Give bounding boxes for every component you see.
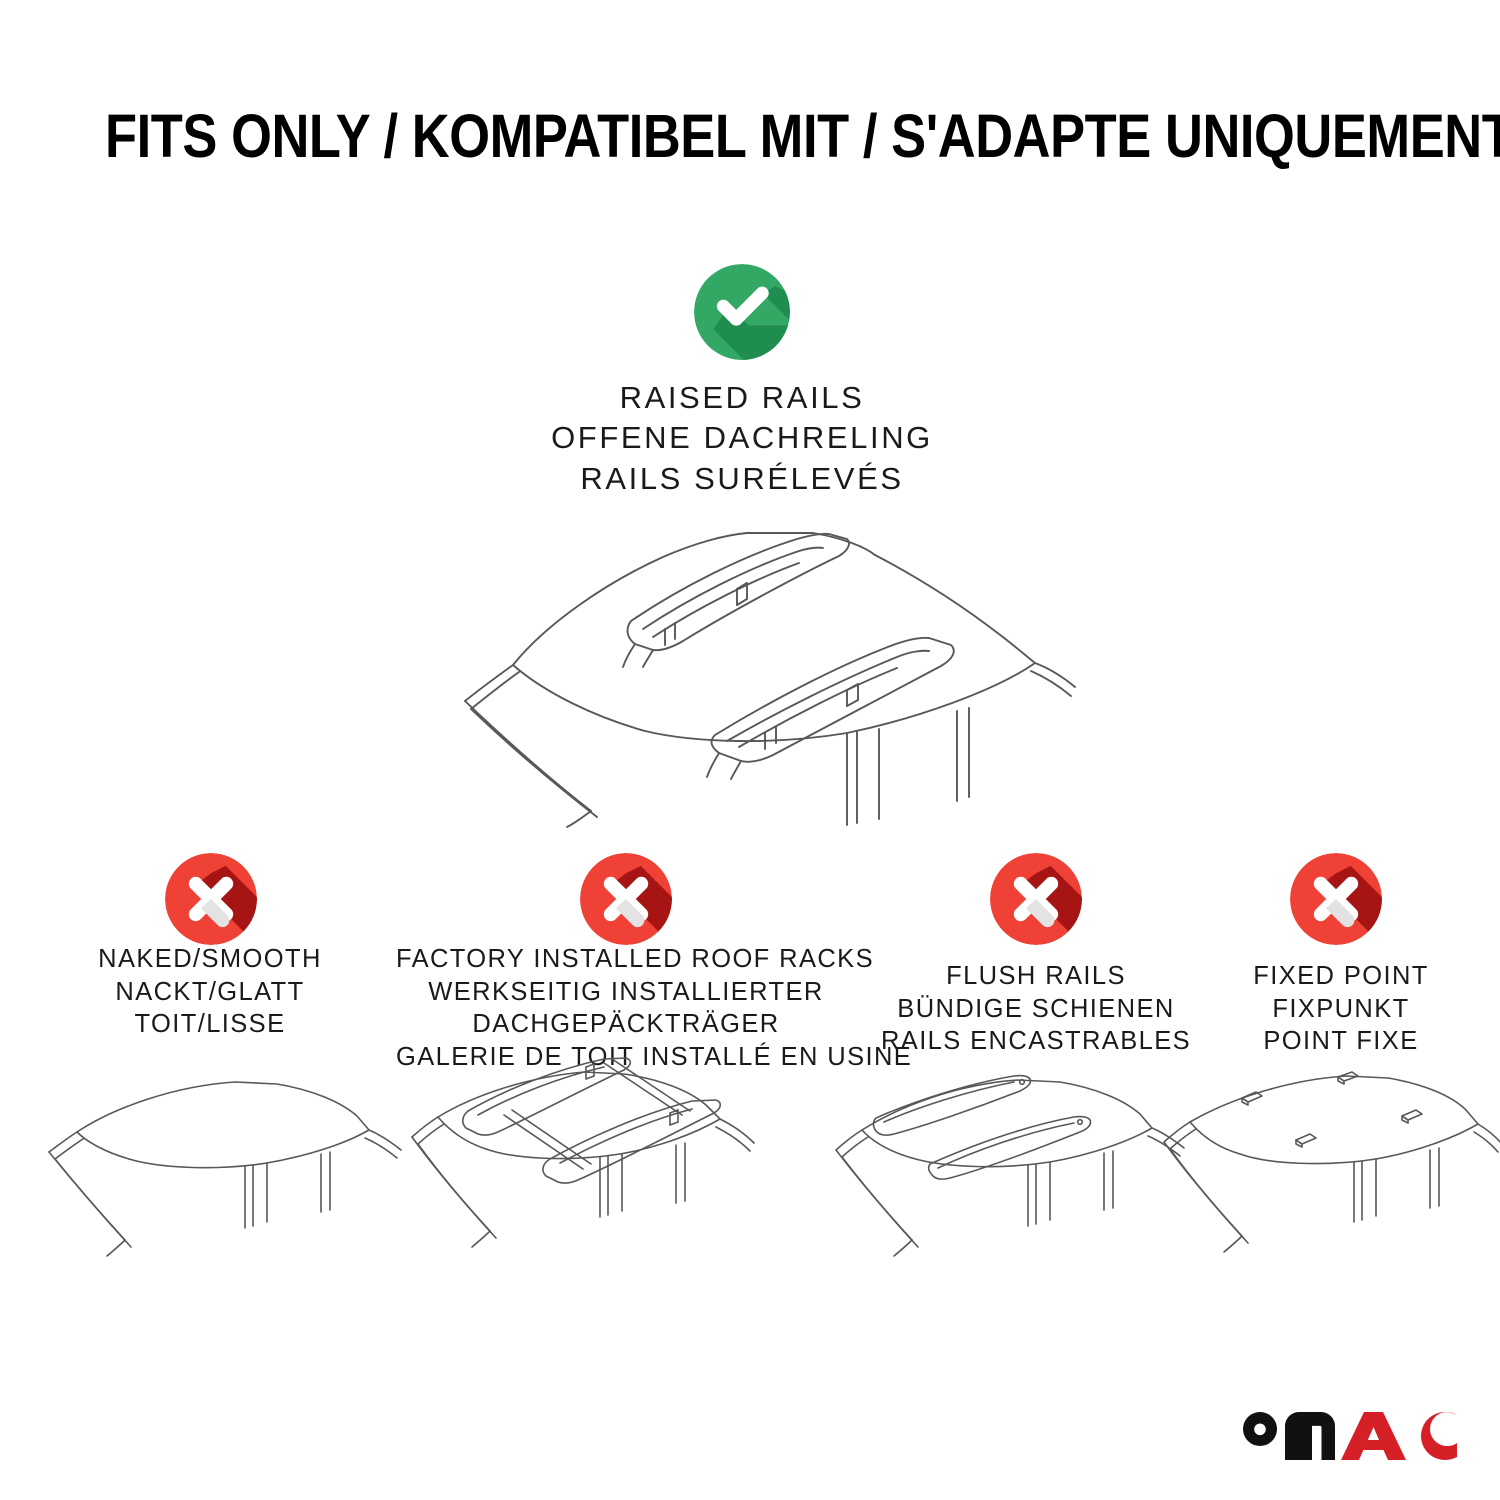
car-roof-factory-rack-illustration	[408, 1055, 798, 1295]
page-title: FITS ONLY / KOMPATIBEL MIT / S'ADAPTE UN…	[105, 103, 1395, 170]
car-roof-raised-rails-illustration	[395, 505, 1107, 835]
car-roof-naked-smooth-illustration	[45, 1060, 435, 1295]
incompatible-labels-fixed-point: FIXED POINT FIXPUNKT POINT FIXE	[1196, 960, 1486, 1058]
cross-circle-icon	[990, 853, 1082, 945]
incompatible-label-fr: TOIT/LISSE	[40, 1008, 380, 1041]
incompatible-labels-factory-rack: FACTORY INSTALLED ROOF RACKS WERKSEITIG …	[396, 943, 856, 1074]
incompatible-label-en: FACTORY INSTALLED ROOF RACKS	[396, 943, 856, 976]
cross-circle-icon	[165, 853, 257, 945]
incompatible-label-en: FIXED POINT	[1196, 960, 1486, 993]
incompatible-label-fr: RAILS ENCASTRABLES	[856, 1025, 1216, 1058]
incompatible-label-fr: POINT FIXE	[1196, 1025, 1486, 1058]
incompatible-label-de-2: DACHGEPÄCKTRÄGER	[396, 1008, 856, 1041]
cross-circle-icon	[1290, 853, 1382, 945]
incompatible-label-de: NACKT/GLATT	[40, 976, 380, 1009]
compatible-label-de: OFFENE DACHRELING	[392, 418, 1092, 458]
car-roof-fixed-point-illustration	[1162, 1060, 1500, 1295]
incompatible-label-de-1: WERKSEITIG INSTALLIERTER	[396, 976, 856, 1009]
incompatible-labels-naked-smooth: NAKED/SMOOTH NACKT/GLATT TOIT/LISSE	[40, 943, 380, 1041]
compatible-label-fr: RAILS SURÉLEVÉS	[392, 459, 1092, 499]
check-circle-icon	[694, 264, 790, 360]
cross-circle-icon	[580, 853, 672, 945]
incompatible-label-de: FIXPUNKT	[1196, 993, 1486, 1026]
compatible-labels: RAISED RAILS OFFENE DACHRELING RAILS SUR…	[392, 378, 1092, 499]
incompatible-label-en: FLUSH RAILS	[856, 960, 1216, 993]
incompatible-label-en: NAKED/SMOOTH	[40, 943, 380, 976]
incompatible-labels-flush-rails: FLUSH RAILS BÜNDIGE SCHIENEN RAILS ENCAS…	[856, 960, 1216, 1058]
compatible-label-en: RAISED RAILS	[392, 378, 1092, 418]
incompatible-label-de: BÜNDIGE SCHIENEN	[856, 993, 1216, 1026]
omac-logo: OMAC	[1233, 1398, 1457, 1460]
